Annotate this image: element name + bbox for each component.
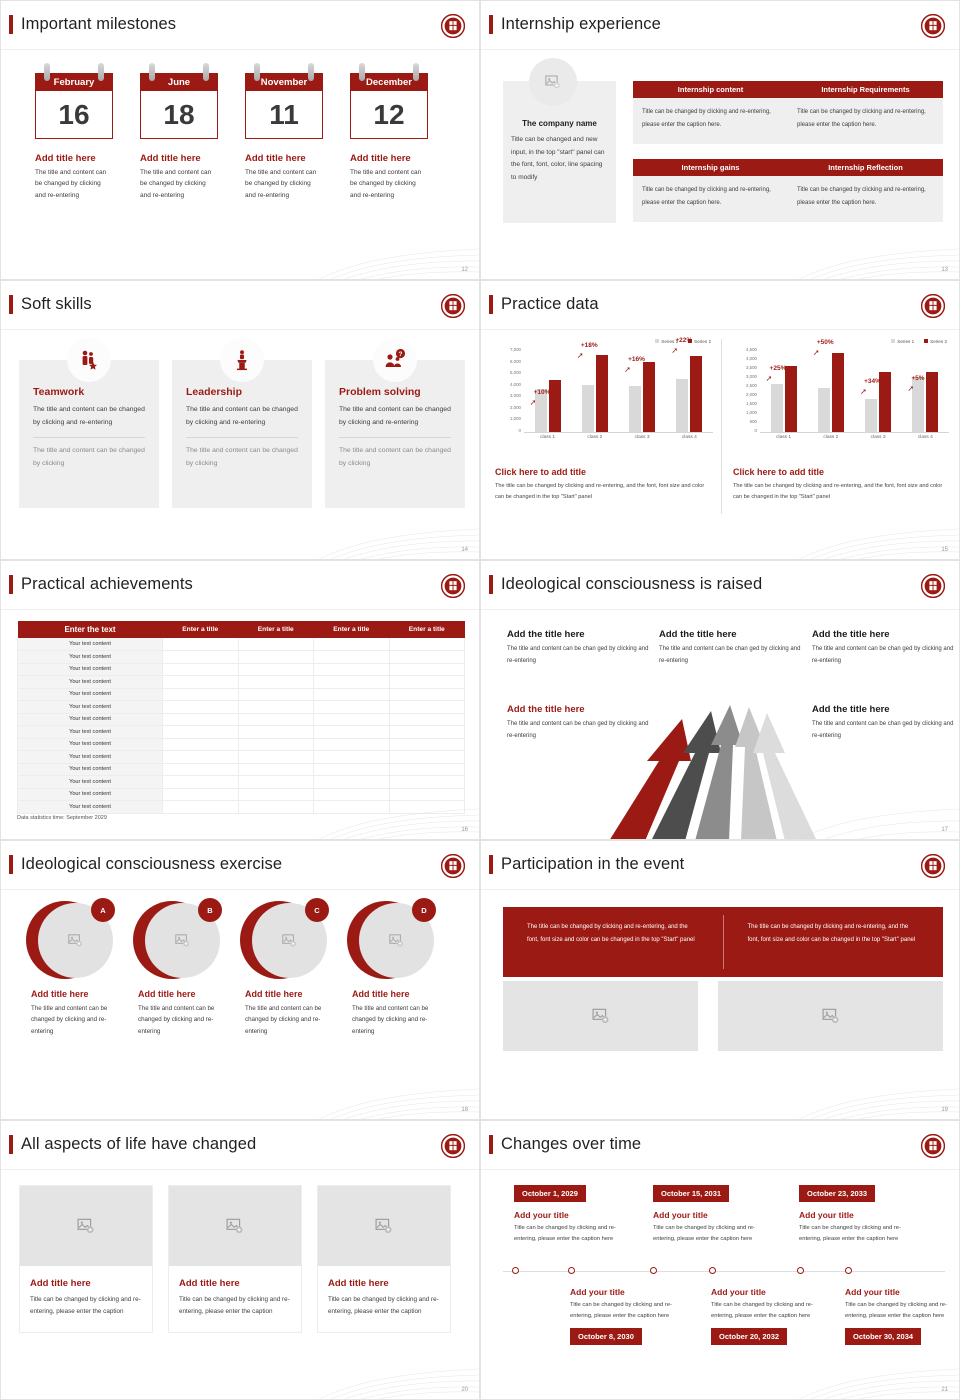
pin-right-icon [203, 63, 209, 81]
table-cell[interactable] [238, 676, 314, 689]
timeline-date: October 23, 2033 [799, 1185, 875, 1202]
chart-bars: ➚+10% ➚+18% ➚+16% ➚+22% [524, 347, 713, 433]
timeline-card-bottom[interactable]: Add your title Title can be changed by c… [570, 1287, 688, 1345]
internship-box-header: Internship Requirements [788, 81, 943, 98]
table-cell[interactable] [314, 663, 390, 676]
bar-chart-2[interactable]: Series 1 Series 2 4,5004,000 3,5003,000 … [731, 339, 953, 459]
circle-caption: Add title here The title and content can… [31, 989, 123, 1037]
table-cell[interactable] [314, 763, 390, 776]
card-heading: Add title here [179, 1278, 291, 1289]
slide-ideological-consciousness-exercise: Ideological consciousness exercise A Add… [0, 840, 480, 1120]
card-heading: Add title here [328, 1278, 440, 1289]
table-cell[interactable] [238, 726, 314, 739]
milestone-body: The title and content can be changed by … [350, 167, 428, 201]
circle-caption: Add title here The title and content can… [138, 989, 230, 1037]
achievements-table[interactable]: Enter the text Enter a title Enter a tit… [17, 621, 465, 814]
item-body: The title and content can be chan ged by… [507, 719, 653, 742]
table-cell[interactable] [163, 763, 239, 776]
table-row[interactable]: Your text content [18, 738, 465, 751]
bar-annotation: +16% [628, 356, 645, 363]
bar-annotation: +18% [581, 342, 598, 349]
timeline-heading: Add your title [799, 1210, 917, 1220]
image-placeholder-icon [821, 1006, 841, 1026]
bar-group: ➚+50% [818, 353, 844, 432]
table-cell-label[interactable]: Your text content [18, 726, 163, 739]
life-card[interactable]: Add title here Title can be changed by c… [19, 1185, 153, 1333]
slide-ideological-consciousness-is-raised: Ideological consciousness is raised Add … [480, 560, 960, 840]
table-cell[interactable] [389, 663, 465, 676]
column-header: Enter a title [314, 621, 390, 638]
page-title: Participation in the event [501, 855, 684, 874]
table-cell-label[interactable]: Your text content [18, 688, 163, 701]
timeline-dot[interactable] [845, 1267, 852, 1274]
title-accent-bar [489, 855, 493, 874]
table-cell[interactable] [163, 663, 239, 676]
life-card-row: Add title here Title can be changed by c… [19, 1185, 451, 1333]
chart-caption-heading: Click here to add title [733, 467, 948, 477]
table-row[interactable]: Your text content [18, 801, 465, 814]
internship-box[interactable]: Internship gains Title can be changed by… [633, 159, 788, 222]
table-cell-label[interactable]: Your text content [18, 701, 163, 714]
bar-series-2 [832, 353, 844, 432]
chart-caption-heading: Click here to add title [495, 467, 710, 477]
card-image-placeholder[interactable] [20, 1186, 152, 1266]
card-body: Add title here Title can be changed by c… [318, 1266, 450, 1332]
calendar-pins [140, 63, 218, 73]
x-axis-ticks: class 1class 2 class 3class 4 [524, 435, 713, 440]
table-cell[interactable] [389, 763, 465, 776]
item-heading: Add the title here [812, 704, 958, 715]
page-number: 12 [461, 267, 468, 273]
raised-item[interactable]: Add the title here The title and content… [507, 629, 653, 667]
circle-body: The title and content can be changed by … [352, 1003, 444, 1037]
bar-group: ➚+25% [771, 366, 797, 432]
chart-caption-2[interactable]: Click here to add title The title can be… [733, 467, 948, 502]
timeline-card-top[interactable]: October 1, 2029 Add your title Title can… [514, 1183, 632, 1244]
table-cell[interactable] [238, 801, 314, 814]
internship-box[interactable]: Internship Reflection Title can be chang… [788, 159, 943, 222]
timeline-dot[interactable] [650, 1267, 657, 1274]
table-cell-label[interactable]: Your text content [18, 738, 163, 751]
circle-body: The title and content can be changed by … [31, 1003, 123, 1037]
bar-group: ➚+5% [912, 372, 938, 432]
decorative-wave [309, 1329, 479, 1399]
divider [33, 437, 145, 438]
title-accent-bar [9, 15, 13, 34]
circle-heading: Add title here [352, 989, 444, 999]
bar-series-1 [865, 399, 877, 432]
timeline-card-bottom[interactable]: Add your title Title can be changed by c… [711, 1287, 829, 1345]
table-cell[interactable] [163, 751, 239, 764]
table-cell[interactable] [238, 688, 314, 701]
circle-heading: Add title here [245, 989, 337, 999]
internship-box-body: Title can be changed by clicking and re-… [788, 176, 943, 222]
slide-grid: Important milestones February 16 Add tit… [0, 0, 960, 1400]
table-row[interactable]: Your text content [18, 726, 465, 739]
table-cell-label[interactable]: Your text content [18, 713, 163, 726]
bar-series-1 [582, 385, 594, 432]
image-placeholder-icon [225, 1216, 245, 1236]
timeline-dot[interactable] [512, 1267, 519, 1274]
table-cell[interactable] [163, 738, 239, 751]
timeline-dot[interactable] [709, 1267, 716, 1274]
milestone-card[interactable]: November 11 Add title here The title and… [245, 63, 323, 201]
bar-annotation: +10% [534, 389, 551, 396]
item-heading: Add the title here [507, 629, 653, 640]
timeline-body: Title can be changed by clicking and re-… [799, 1223, 917, 1244]
decorative-wave [309, 209, 479, 279]
x-axis-ticks: class 1class 2 class 3class 4 [760, 435, 949, 440]
table-cell[interactable] [163, 801, 239, 814]
column-header: Enter a title [163, 621, 239, 638]
milestone-caption: Add title here The title and content can… [245, 153, 323, 201]
table-cell[interactable] [389, 701, 465, 714]
header-divider [481, 329, 959, 330]
table-cell-label[interactable]: Your text content [18, 638, 163, 651]
table-cell[interactable] [314, 651, 390, 664]
slide-soft-skills: Soft skills Teamwork The title and conte… [0, 280, 480, 560]
bar-annotation: +22% [675, 337, 692, 344]
table-cell[interactable] [389, 676, 465, 689]
card-body: Add title here Title can be changed by c… [20, 1266, 152, 1332]
life-card[interactable]: Add title here Title can be changed by c… [168, 1185, 302, 1333]
company-image-placeholder[interactable] [529, 58, 577, 106]
bar-annotation: +34% [864, 378, 881, 385]
card-heading: Add title here [30, 1278, 142, 1289]
table-cell[interactable] [314, 713, 390, 726]
calendar-day: 18 [163, 101, 194, 129]
table-cell[interactable] [238, 713, 314, 726]
table-cell[interactable] [238, 651, 314, 664]
table-row[interactable]: Your text content [18, 651, 465, 664]
timeline-date: October 15, 2031 [653, 1185, 729, 1202]
slide-participation-in-the-event: Participation in the event The title can… [480, 840, 960, 1120]
circle-badge: B [198, 898, 222, 922]
table-cell[interactable] [163, 713, 239, 726]
table-cell[interactable] [389, 638, 465, 651]
item-body: The title and content can be chan ged by… [812, 719, 958, 742]
card-image-placeholder[interactable] [318, 1186, 450, 1266]
bar-series-2 [926, 372, 938, 432]
column-header: Enter a title [389, 621, 465, 638]
milestone-title: Add title here [140, 153, 218, 164]
table-cell[interactable] [163, 651, 239, 664]
raised-item[interactable]: Add the title here The title and content… [812, 629, 958, 667]
slide-practical-achievements: Practical achievements Enter the text En… [0, 560, 480, 840]
table-cell[interactable] [238, 638, 314, 651]
milestone-title: Add title here [245, 153, 323, 164]
table-cell[interactable] [314, 788, 390, 801]
internship-box-header: Internship content [633, 81, 788, 98]
soft-skill-card[interactable]: Leadership The title and content can be … [172, 360, 312, 508]
table-cell[interactable] [389, 651, 465, 664]
table-row[interactable]: Your text content [18, 751, 465, 764]
milestone-title: Add title here [35, 153, 113, 164]
table-cell[interactable] [314, 751, 390, 764]
chart-caption-body: The title can be changed by clicking and… [733, 481, 948, 502]
header-divider [1, 329, 479, 330]
bar-series-1 [912, 377, 924, 432]
timeline-body: Title can be changed by clicking and re-… [845, 1300, 960, 1321]
timeline-card-top[interactable]: October 23, 2033 Add your title Title ca… [799, 1183, 917, 1244]
timeline-body: Title can be changed by clicking and re-… [514, 1223, 632, 1244]
table-cell[interactable] [163, 776, 239, 789]
table-cell[interactable] [238, 701, 314, 714]
y-axis-ticks: 4,5004,000 3,5003,000 2,5002,000 1,5001,… [731, 347, 757, 433]
image-placeholder-icon [544, 73, 562, 91]
circle-badge: A [91, 898, 115, 922]
pin-right-icon [413, 63, 419, 81]
soft-skill-heading: Problem solving [339, 386, 451, 398]
bar-series-2 [690, 356, 702, 432]
page-number: 20 [461, 1387, 468, 1393]
table-cell[interactable] [389, 738, 465, 751]
calendar-body: 18 [140, 91, 218, 139]
y-axis-ticks: 7,0006,000 5,0004,000 3,0002,000 1,0000 [495, 347, 521, 433]
header-divider [481, 609, 959, 610]
table-cell[interactable] [238, 776, 314, 789]
table-row[interactable]: Your text content [18, 713, 465, 726]
table-cell[interactable] [314, 688, 390, 701]
table-cell[interactable] [389, 751, 465, 764]
card-image-placeholder[interactable] [169, 1186, 301, 1266]
table-row[interactable]: Your text content [18, 788, 465, 801]
title-accent-bar [489, 1135, 493, 1154]
table-cell[interactable] [314, 776, 390, 789]
milestone-body: The title and content can be changed by … [245, 167, 323, 201]
chart-plot-area: 4,5004,000 3,5003,000 2,5002,000 1,5001,… [731, 347, 953, 447]
table-row[interactable]: Your text content [18, 638, 465, 651]
chart-caption-1[interactable]: Click here to add title The title can be… [495, 467, 710, 502]
image-placeholder-icon [76, 1216, 96, 1236]
timeline-date: October 1, 2029 [514, 1185, 586, 1202]
circle-heading: Add title here [31, 989, 123, 999]
internship-box[interactable]: Internship content Title can be changed … [633, 81, 788, 144]
page-number: 19 [941, 1107, 948, 1113]
table-cell[interactable] [163, 788, 239, 801]
soft-skill-heading: Leadership [186, 386, 298, 398]
image-placeholder-icon [591, 1006, 611, 1026]
table-cell[interactable] [238, 738, 314, 751]
title-accent-bar [489, 575, 493, 594]
raised-item[interactable]: Add the title here The title and content… [507, 704, 653, 742]
table-cell[interactable] [314, 726, 390, 739]
chart-bars: ➚+25% ➚+50% ➚+34% ➚+5% [760, 347, 949, 433]
soft-skill-body: The title and content can be changed by … [339, 404, 451, 429]
table-cell[interactable] [238, 788, 314, 801]
event-red-panel[interactable]: The title can be changed by clicking and… [503, 907, 943, 977]
university-crest-logo [921, 1134, 945, 1158]
card-body: Add title here Title can be changed by c… [169, 1266, 301, 1332]
pin-left-icon [44, 63, 50, 81]
calendar-pins [35, 63, 113, 73]
table-header-row: Enter the text Enter a title Enter a tit… [18, 621, 465, 638]
raised-item[interactable]: Add the title here The title and content… [659, 629, 805, 667]
divider [339, 437, 451, 438]
calendar-pins [245, 63, 323, 73]
slide-all-aspects-of-life-have-changed: All aspects of life have changed Add tit… [0, 1120, 480, 1400]
soft-skill-card[interactable]: Teamwork The title and content can be ch… [19, 360, 159, 508]
internship-box[interactable]: Internship Requirements Title can be cha… [788, 81, 943, 144]
timeline-card-top[interactable]: October 15, 2031 Add your title Title ca… [653, 1183, 771, 1244]
slide-header: Participation in the event [489, 855, 684, 874]
header-divider [481, 1169, 959, 1170]
table-cell[interactable] [163, 676, 239, 689]
calendar-body: 12 [350, 91, 428, 139]
bar-series-1 [771, 384, 783, 432]
page-title: Ideological consciousness is raised [501, 575, 762, 594]
image-placeholder-icon [174, 932, 191, 949]
life-card[interactable]: Add title here Title can be changed by c… [317, 1185, 451, 1333]
bar-chart-1[interactable]: Series 1 Series 2 7,0006,000 5,0004,000 … [495, 339, 717, 459]
internship-box-body: Title can be changed by clicking and re-… [633, 176, 788, 222]
item-heading: Add the title here [507, 704, 653, 715]
table-cell[interactable] [314, 638, 390, 651]
slide-important-milestones: Important milestones February 16 Add tit… [0, 0, 480, 280]
page-number: 13 [941, 267, 948, 273]
soft-skill-body-secondary: The title and content can be changed by … [186, 445, 298, 470]
title-accent-bar [489, 15, 493, 34]
milestone-caption: Add title here The title and content can… [140, 153, 218, 201]
bar-series-1 [629, 386, 641, 432]
soft-skill-body: The title and content can be changed by … [33, 404, 145, 429]
image-placeholder-icon [374, 1216, 394, 1236]
table-cell[interactable] [389, 776, 465, 789]
slide-header: Practice data [489, 295, 599, 314]
timeline-date: October 30, 2034 [845, 1328, 921, 1345]
image-placeholder-icon [388, 932, 405, 949]
milestone-card[interactable]: February 16 Add title here The title and… [35, 63, 113, 201]
table-cell[interactable] [389, 801, 465, 814]
table-row[interactable]: Your text content [18, 663, 465, 676]
milestone-card[interactable]: June 18 Add title here The title and con… [140, 63, 218, 201]
university-crest-logo [921, 294, 945, 318]
table-cell[interactable] [163, 688, 239, 701]
bar-group: ➚+18% [582, 355, 608, 432]
page-title: Ideological consciousness exercise [21, 855, 282, 874]
university-crest-logo [921, 14, 945, 38]
table-cell[interactable] [238, 663, 314, 676]
slide-header: Ideological consciousness exercise [9, 855, 282, 874]
table-cell-label[interactable]: Your text content [18, 663, 163, 676]
slide-internship-experience: Internship experience The company name T… [480, 0, 960, 280]
table-cell-label[interactable]: Your text content [18, 751, 163, 764]
bar-annotation: +25% [770, 365, 787, 372]
raised-item[interactable]: Add the title here The title and content… [812, 704, 958, 742]
header-divider [481, 49, 959, 50]
page-title: Soft skills [21, 295, 92, 314]
timeline-date: October 8, 2030 [570, 1328, 642, 1345]
event-image-placeholder[interactable] [503, 981, 698, 1051]
soft-skill-heading: Teamwork [33, 386, 145, 398]
timeline-date: October 20, 2032 [711, 1328, 787, 1345]
table-cell[interactable] [314, 738, 390, 751]
bar-group: ➚+22% [676, 356, 702, 432]
table-cell[interactable] [163, 638, 239, 651]
decorative-wave [789, 1049, 959, 1119]
table-cell[interactable] [314, 801, 390, 814]
table-cell-label[interactable]: Your text content [18, 651, 163, 664]
event-image-placeholder[interactable] [718, 981, 943, 1051]
circle-badge: C [305, 898, 329, 922]
table-cell-label[interactable]: Your text content [18, 788, 163, 801]
problem-solving-question-icon: ? [373, 338, 417, 382]
timeline-dot[interactable] [797, 1267, 804, 1274]
table-cell[interactable] [314, 701, 390, 714]
university-crest-logo [441, 574, 465, 598]
timeline-body: Title can be changed by clicking and re-… [653, 1223, 771, 1244]
milestone-title: Add title here [350, 153, 428, 164]
slide-changes-over-time: Changes over time October 1, 2029 Add yo… [480, 1120, 960, 1400]
item-body: The title and content can be chan ged by… [507, 644, 653, 667]
slide-header: All aspects of life have changed [9, 1135, 256, 1154]
table-cell[interactable] [314, 676, 390, 689]
table-row[interactable]: Your text content [18, 763, 465, 776]
university-crest-logo [441, 294, 465, 318]
table-cell[interactable] [238, 751, 314, 764]
table-cell[interactable] [389, 726, 465, 739]
table-cell[interactable] [163, 701, 239, 714]
page-number: 14 [461, 547, 468, 553]
timeline-heading: Add your title [653, 1210, 771, 1220]
page-title: Important milestones [21, 15, 176, 34]
leadership-podium-speaker-icon [220, 338, 264, 382]
chart-plot-area: 7,0006,000 5,0004,000 3,0002,000 1,0000 … [495, 347, 717, 447]
table-cell[interactable] [163, 726, 239, 739]
legend-item-series-2: Series 2 [924, 339, 947, 344]
soft-skill-card[interactable]: ? Problem solving The title and content … [325, 360, 465, 508]
milestone-card[interactable]: December 12 Add title here The title and… [350, 63, 428, 201]
table-row[interactable]: Your text content [18, 776, 465, 789]
page-title: Practical achievements [21, 575, 193, 594]
calendar-day: 16 [58, 101, 89, 129]
table-row[interactable]: Your text content [18, 701, 465, 714]
table-cell-label[interactable]: Your text content [18, 763, 163, 776]
pin-left-icon [254, 63, 260, 81]
milestone-caption: Add title here The title and content can… [35, 153, 113, 201]
card-text: Title can be changed by clicking and re-… [179, 1294, 291, 1318]
table-cell[interactable] [389, 713, 465, 726]
table-cell[interactable] [389, 688, 465, 701]
page-title: Practice data [501, 295, 599, 314]
calendar-body: 11 [245, 91, 323, 139]
header-divider [1, 609, 479, 610]
table-cell[interactable] [389, 788, 465, 801]
table-row[interactable]: Your text content [18, 688, 465, 701]
table-cell[interactable] [238, 763, 314, 776]
slide-header: Internship experience [489, 15, 661, 34]
timeline-dot[interactable] [568, 1267, 575, 1274]
page-number: 16 [461, 827, 468, 833]
image-placeholder-icon [281, 932, 298, 949]
bar-series-2 [596, 355, 608, 432]
table-cell-label[interactable]: Your text content [18, 676, 163, 689]
timeline-body: Title can be changed by clicking and re-… [711, 1300, 829, 1321]
table-cell-label[interactable]: Your text content [18, 776, 163, 789]
slide-header: Important milestones [9, 15, 176, 34]
calendar-day: 11 [269, 101, 299, 129]
header-divider [1, 49, 479, 50]
svg-text:?: ? [399, 351, 403, 358]
slide-header: Ideological consciousness is raised [489, 575, 762, 594]
table-row[interactable]: Your text content [18, 676, 465, 689]
timeline-heading: Add your title [570, 1287, 688, 1297]
table-cell-label[interactable]: Your text content [18, 801, 163, 814]
soft-skill-body: The title and content can be changed by … [186, 404, 298, 429]
timeline-card-bottom[interactable]: Add your title Title can be changed by c… [845, 1287, 960, 1345]
bar-group: ➚+16% [629, 362, 655, 432]
title-accent-bar [9, 575, 13, 594]
